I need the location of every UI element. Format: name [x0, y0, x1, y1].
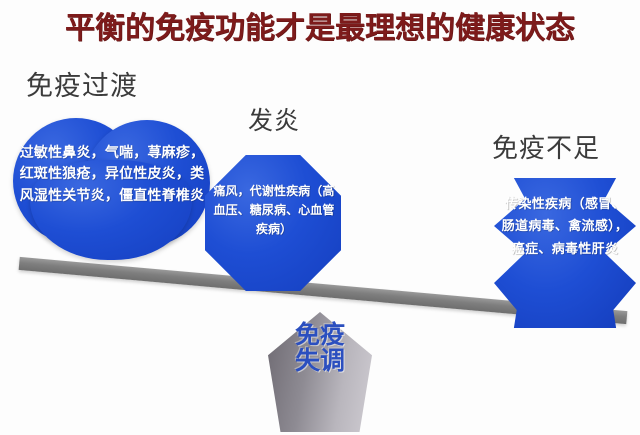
infographic-canvas: 平衡的免疫功能才是最理想的健康状态 免疫过渡 发炎 免疫不足 免疫失调 过敏性鼻… — [0, 0, 640, 435]
heading-immune-excess: 免疫过渡 — [26, 64, 138, 103]
shield-text-right: 传染性疾病（感冒、肠道病毒、禽流感），癌症、病毒性肝炎 — [500, 194, 630, 261]
cloud-text-left: 过敏性鼻炎，气喘，荨麻疹，红斑性狼疮，异位性皮炎，类风湿性关节炎，僵直性脊椎炎 — [16, 143, 208, 207]
octagon-text-middle: 痛风，代谢性疾病（高血压、糖尿病、心血管疾病） — [208, 182, 340, 239]
fulcrum-label-immune-dysregulation: 免疫失调 — [290, 322, 350, 373]
heading-inflammation: 发炎 — [248, 101, 300, 137]
heading-immune-deficiency: 免疫不足 — [492, 128, 600, 165]
page-title: 平衡的免疫功能才是最理想的健康状态 — [0, 10, 640, 48]
